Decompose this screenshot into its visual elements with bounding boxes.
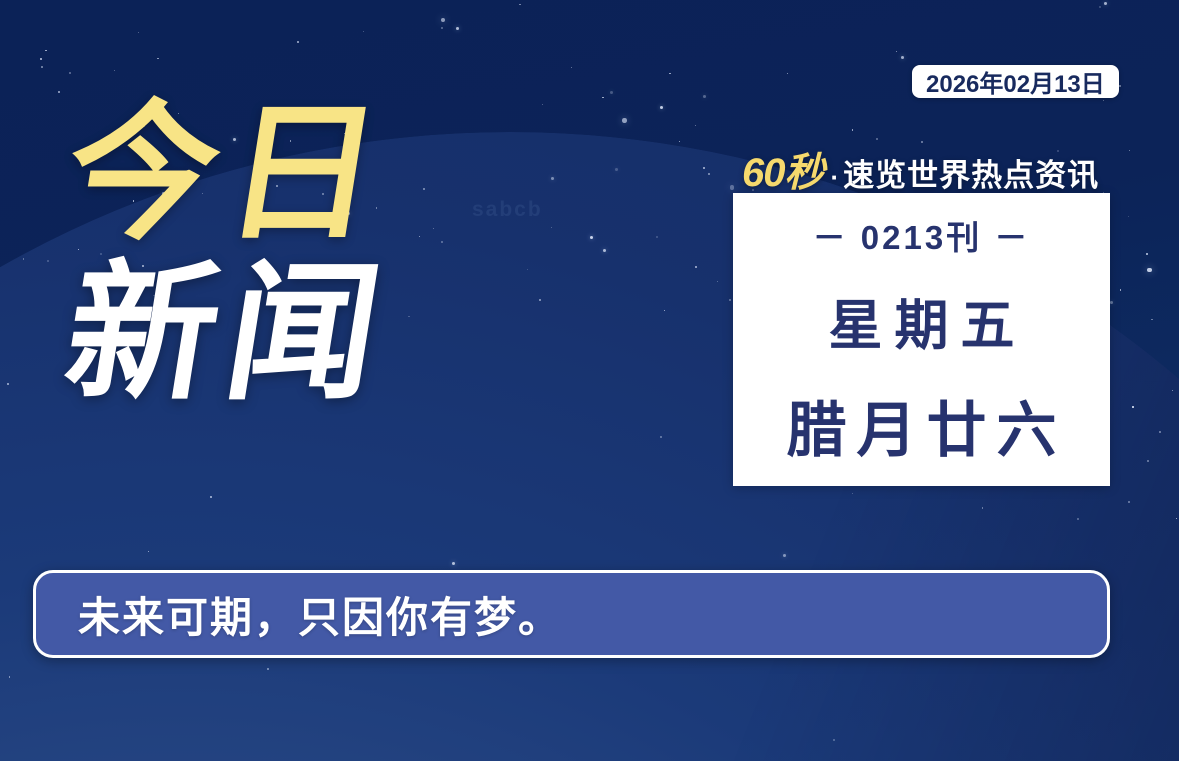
tagline-seconds: 60秒 (742, 140, 824, 198)
page-title-line-2: 新闻 (56, 258, 500, 410)
bottom-quote-text: 未来可期，只因你有梦。 (78, 584, 562, 645)
card-lunar-date: 腊月廿六 (777, 382, 1067, 469)
card-issue-number: － 0213刊 － (813, 211, 1031, 259)
tagline-separator-dot: · (831, 162, 840, 193)
bottom-quote-banner: 未来可期，只因你有梦。 (33, 570, 1110, 658)
date-badge: 2026年02月13日 (912, 65, 1119, 98)
poster-canvas: sabcb 今日 新闻 2026年02月13日 60秒 · 速览世界热点资讯 －… (0, 0, 1179, 761)
card-weekday: 星期五 (817, 281, 1027, 360)
poster-title: 今日 新闻 (56, 98, 476, 410)
tagline: 60秒 · 速览世界热点资讯 (742, 140, 1099, 198)
tagline-description: 速览世界热点资讯 (843, 150, 1099, 195)
page-title-line-1: 今日 (56, 98, 500, 250)
date-card: － 0213刊 － 星期五 腊月廿六 (733, 193, 1110, 486)
